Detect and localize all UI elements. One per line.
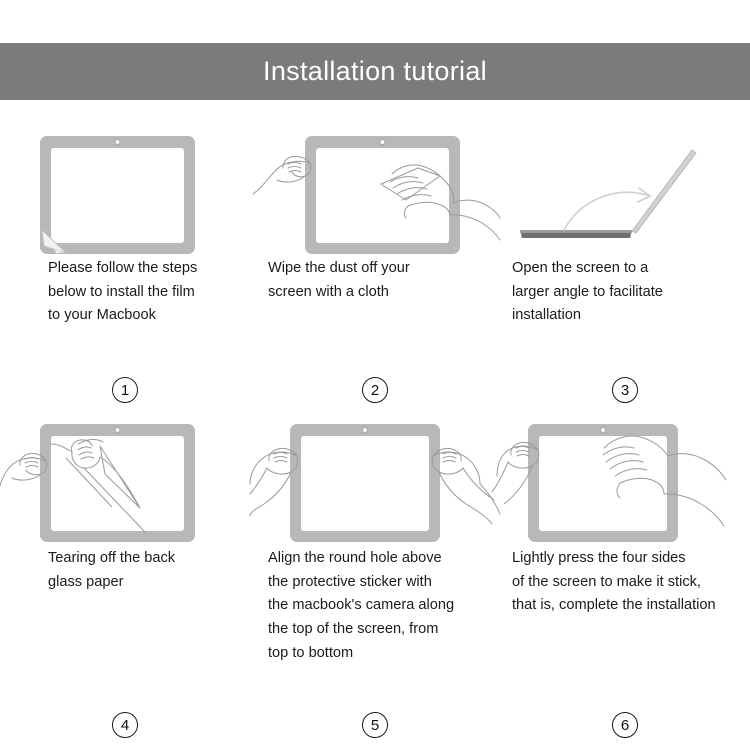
step-4-caption: Tearing off the back glass paper	[0, 547, 250, 594]
step-2-caption: Wipe the dust off your screen with a clo…	[250, 257, 500, 304]
step-badge-1: 1	[112, 377, 138, 403]
step-6-illustration	[500, 412, 750, 547]
tablet-body-icon	[305, 136, 460, 254]
right-hand-icon	[432, 448, 500, 524]
step-badge-2: 2	[362, 377, 388, 403]
tablet-body-icon	[40, 424, 195, 542]
tablet-body-icon	[528, 424, 678, 542]
page-title: Installation tutorial	[263, 56, 487, 87]
tablet-body-icon	[40, 136, 195, 254]
step-5-badge-wrap: 5	[250, 712, 500, 738]
tablet-body-icon	[290, 424, 440, 542]
left-hand-pinch-icon	[0, 453, 47, 486]
steps-row-top: Please follow the steps below to install…	[0, 122, 750, 412]
step-card-2: Wipe the dust off your screen with a clo…	[250, 122, 500, 412]
left-hand-icon	[253, 156, 311, 194]
step-card-5: Align the round hole above the protectiv…	[250, 412, 500, 742]
step-badge-3: 3	[612, 377, 638, 403]
step-2-badge-wrap: 2	[250, 377, 500, 403]
step-6-badge-wrap: 6	[500, 712, 750, 738]
step-badge-5: 5	[362, 712, 388, 738]
step-3-caption: Open the screen to a larger angle to fac…	[500, 257, 750, 328]
step-badge-6: 6	[612, 712, 638, 738]
tutorial-page: Installation tutorial	[0, 0, 750, 750]
step-4-illustration	[0, 412, 250, 547]
steps-grid: Please follow the steps below to install…	[0, 100, 750, 750]
step-1-illustration	[0, 122, 250, 257]
laptop-base-icon	[520, 230, 632, 238]
step-2-illustration	[250, 122, 500, 257]
step-6-caption: Lightly press the four sides of the scre…	[500, 547, 750, 618]
step-3-badge-wrap: 3	[500, 377, 750, 403]
step-1-caption: Please follow the steps below to install…	[0, 257, 250, 328]
step-4-badge-wrap: 4	[0, 712, 270, 738]
step-1-badge-wrap: 1	[0, 377, 270, 403]
step-5-caption: Align the round hole above the protectiv…	[250, 547, 500, 665]
step-card-1: Please follow the steps below to install…	[0, 122, 250, 412]
steps-row-bottom: Tearing off the back glass paper 4	[0, 412, 750, 742]
header-bar: Installation tutorial	[0, 43, 750, 100]
laptop-lid-icon	[632, 150, 696, 233]
step-3-illustration	[500, 122, 750, 257]
step-5-illustration	[250, 412, 500, 547]
step-badge-4: 4	[112, 712, 138, 738]
step-card-3: Open the screen to a larger angle to fac…	[500, 122, 750, 412]
step-card-4: Tearing off the back glass paper 4	[0, 412, 250, 742]
step-card-6: Lightly press the four sides of the scre…	[500, 412, 750, 742]
